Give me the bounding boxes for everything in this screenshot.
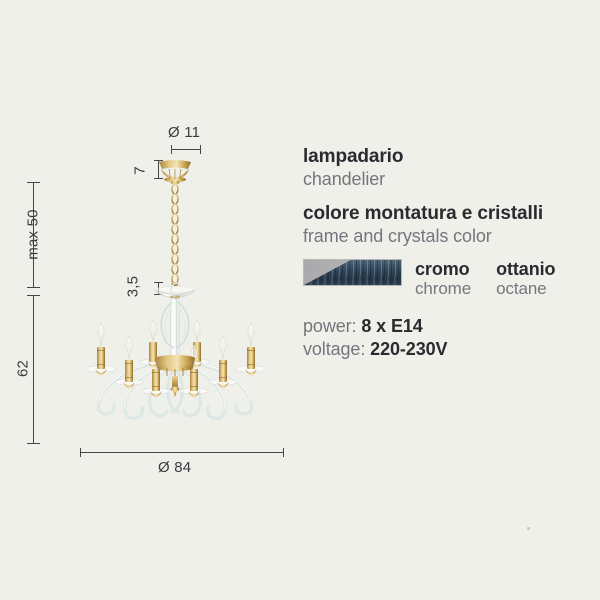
- candle-station: [236, 323, 266, 376]
- dimension-cap-top: [27, 182, 40, 183]
- product-name-it: lampadario: [303, 146, 593, 168]
- dimension-cap-bottom-left: [80, 448, 81, 457]
- spec-voltage: voltage: 220-230V: [303, 338, 593, 361]
- image-artifact-speck: [527, 527, 530, 530]
- color-heading-en: frame and crystals color: [303, 225, 593, 247]
- dimension-cap-bottom-2: [27, 443, 40, 444]
- dimension-cap-bottom: [27, 287, 40, 288]
- spec-power-label: power:: [303, 316, 356, 336]
- candle-station: [115, 336, 143, 389]
- spec-power-value: 8 x E14: [361, 316, 422, 336]
- dimension-label-bottom-diameter: Ø 84: [158, 459, 191, 476]
- finish-name-en-chrome: chrome: [415, 279, 471, 299]
- dimension-label-body-height: 62: [15, 349, 32, 389]
- product-info-panel: lampadario chandelier colore montatura e…: [303, 146, 593, 361]
- dimension-label-top-diameter: Ø 11: [168, 124, 200, 141]
- spec-power: power: 8 x E14: [303, 315, 593, 338]
- candle-bulb-icon: [98, 323, 104, 347]
- dimension-cap-top-2: [27, 295, 40, 296]
- product-spec-sheet: max 50 62 Ø 11 7 3,5 Ø 84: [0, 0, 600, 600]
- specifications: power: 8 x E14 voltage: 220-230V: [303, 315, 593, 361]
- ceiling-canopy-icon: [159, 160, 191, 184]
- dimension-line-bottom-diameter: [80, 452, 283, 453]
- candle-bulb-icon: [150, 320, 156, 342]
- color-swatch-split[interactable]: [303, 259, 402, 286]
- candle-station: [209, 336, 237, 389]
- candle-station: [86, 323, 116, 376]
- candle-bulb-icon: [194, 320, 200, 342]
- candle-bulb-icon: [126, 336, 132, 360]
- color-heading-it: colore montatura e cristalli: [303, 203, 593, 225]
- dimension-line-body-height: [33, 295, 34, 443]
- candle-bulb-icon: [220, 336, 226, 360]
- finish-name-en-octane: octane: [496, 279, 555, 299]
- finish-option-chrome[interactable]: cromo chrome: [415, 259, 471, 299]
- finish-option-octane[interactable]: ottanio octane: [496, 259, 555, 299]
- chandelier-illustration: [55, 150, 295, 445]
- candle-bulb-icon: [248, 323, 254, 347]
- dimension-label-max-drop: max 50: [25, 195, 42, 275]
- product-name-en: chandelier: [303, 168, 593, 190]
- suspension-chain-icon: [172, 184, 178, 284]
- spec-voltage-label: voltage:: [303, 339, 365, 359]
- finish-options: cromo chrome ottanio octane: [303, 259, 593, 299]
- spec-voltage-value: 220-230V: [370, 339, 447, 359]
- chandelier-svg: [55, 150, 295, 445]
- finish-name-it-octane: ottanio: [496, 259, 555, 279]
- dimension-cap-bottom-right: [283, 448, 284, 457]
- finish-name-it-chrome: cromo: [415, 259, 471, 279]
